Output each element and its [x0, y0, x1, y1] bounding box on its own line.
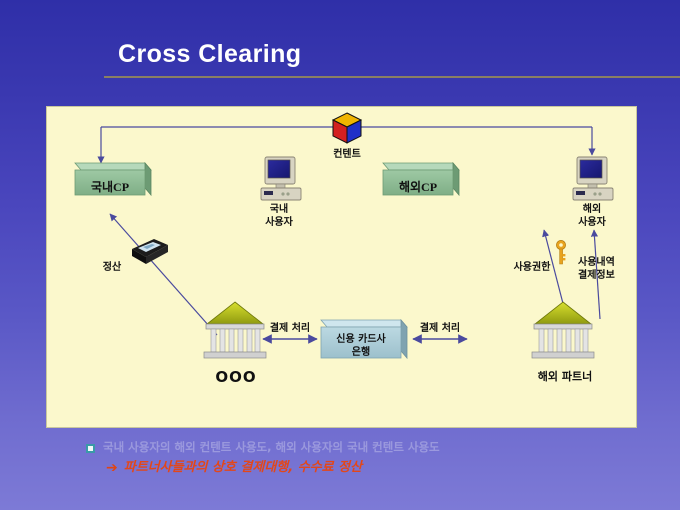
bullet-2-text: 파트너사들과의 상호 결제대행, 수수료 정산 [124, 460, 362, 476]
usage-detail-label: 사용내역 결제정보 [578, 257, 638, 282]
usage-right-label: 사용권한 [503, 262, 561, 275]
bullet-1-text: 국내 사용자의 해외 컨텐트 사용도, 해외 사용자의 국내 컨텐트 사용도 [103, 440, 440, 455]
title-block: Cross Clearing [118, 41, 658, 67]
domestic-bank-label: OOO [205, 368, 267, 387]
key-icon [556, 240, 565, 264]
domestic-user-computer-icon [261, 157, 301, 200]
square-bullet-icon [86, 444, 95, 453]
settlement-label: 정산 [92, 262, 132, 275]
bullet-item-1: 국내 사용자의 해외 컨텐트 사용도, 해외 사용자의 국내 컨텐트 사용도 [86, 440, 656, 455]
domestic-user-label: 국내 사용자 [247, 204, 311, 229]
overseas-user-computer-icon [573, 157, 613, 200]
slide-canvas: Cross Clearing [0, 0, 680, 510]
content-cube-icon [333, 113, 361, 143]
title-divider [104, 76, 680, 78]
domestic-cp-label: 국내CP [75, 178, 145, 195]
payment-right-label: 결제 처리 [409, 323, 471, 336]
bullet-item-2: ➔ 파트너사들과의 상호 결제대행, 수수료 정산 [106, 460, 656, 476]
bullet-list: 국내 사용자의 해외 컨텐트 사용도, 해외 사용자의 국내 컨텐트 사용도 ➔… [86, 440, 656, 476]
overseas-bank-icon [532, 302, 594, 358]
overseas-bank-label: 해외 파트너 [517, 370, 613, 384]
overseas-user-label: 해외 사용자 [560, 204, 624, 229]
page-title: Cross Clearing [118, 41, 658, 67]
money-bundle-icon [132, 239, 168, 264]
domestic-bank-icon [204, 302, 266, 358]
arrow-bullet-icon: ➔ [106, 461, 118, 475]
diagram-panel: overseas user --> [46, 106, 637, 428]
card-company-label: 신용 카드사 은행 [321, 334, 401, 359]
content-label: 컨텐트 [317, 149, 377, 162]
overseas-cp-label: 해외CP [383, 178, 453, 195]
payment-left-label: 결제 처리 [259, 323, 321, 336]
